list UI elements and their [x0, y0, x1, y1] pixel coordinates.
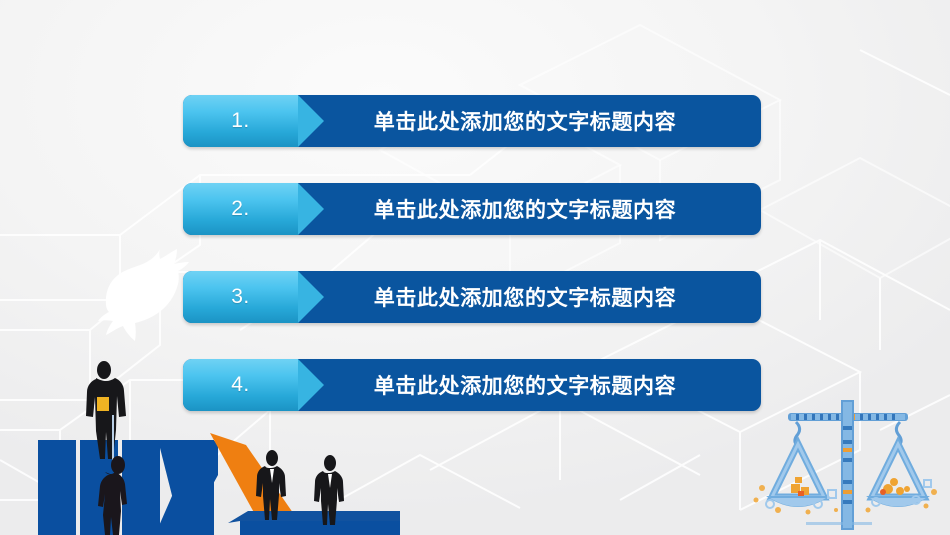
item-label[interactable]: 单击此处添加您的文字标题内容: [315, 183, 761, 235]
item-number: 3.: [183, 271, 298, 323]
content-list: 1. 单击此处添加您的文字标题内容 2. 单击此处添加您的文字标题内容 3. 单…: [183, 95, 761, 425]
item-label[interactable]: 单击此处添加您的文字标题内容: [315, 271, 761, 323]
item-label[interactable]: 单击此处添加您的文字标题内容: [315, 359, 761, 411]
list-item[interactable]: 2. 单击此处添加您的文字标题内容: [183, 183, 761, 235]
list-item[interactable]: 4. 单击此处添加您的文字标题内容: [183, 359, 761, 411]
item-number: 1.: [183, 95, 298, 147]
slide-canvas: 1. 单击此处添加您的文字标题内容 2. 单击此处添加您的文字标题内容 3. 单…: [0, 0, 950, 535]
item-number: 4.: [183, 359, 298, 411]
list-item[interactable]: 3. 单击此处添加您的文字标题内容: [183, 271, 761, 323]
item-label[interactable]: 单击此处添加您的文字标题内容: [315, 95, 761, 147]
right-illustration: [748, 392, 948, 535]
list-item[interactable]: 1. 单击此处添加您的文字标题内容: [183, 95, 761, 147]
item-number: 2.: [183, 183, 298, 235]
